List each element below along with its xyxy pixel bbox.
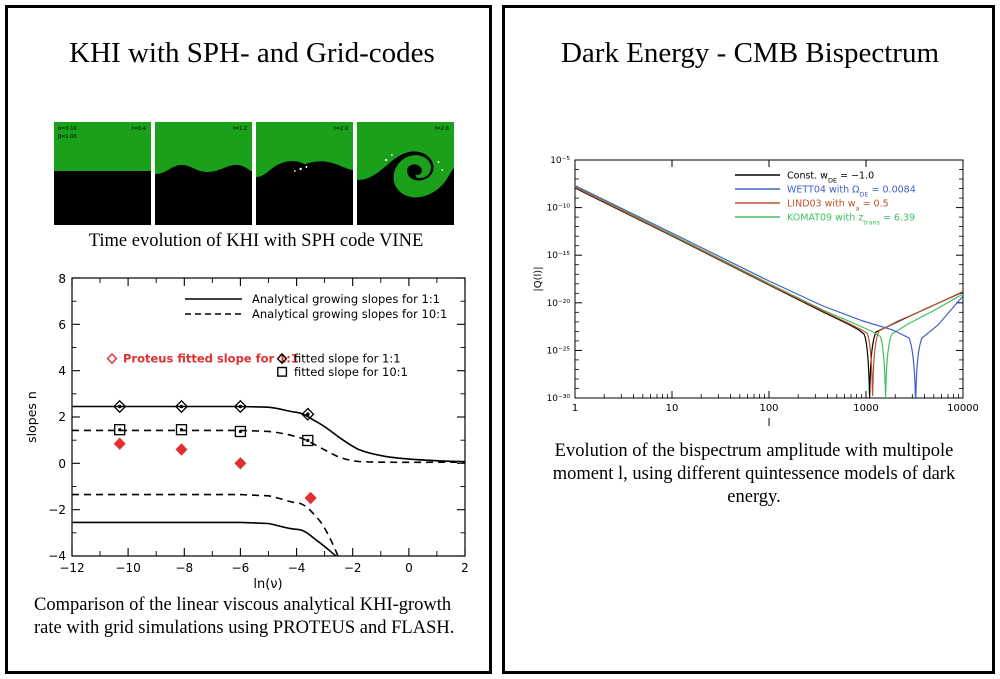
svg-text:0: 0 <box>405 561 413 575</box>
sim-time-label-1: t=0.4 <box>132 126 146 132</box>
sim-frame-4: t=2.8 <box>357 122 454 225</box>
y-tick-labels: 8 6 4 2 0 −2 −4 <box>48 272 66 563</box>
svg-text:−12: −12 <box>59 561 84 575</box>
left-bottom-caption: Comparison of the linear viscous analyti… <box>34 594 474 640</box>
x-tick-labels-cmb: 1 10 100 1000 10000 <box>572 403 978 414</box>
svg-text:−8: −8 <box>175 561 193 575</box>
legend-marker-proteus <box>108 354 117 363</box>
cmb-legend: Const. wDE = −1.0 WETT04 with ΩDE = 0.00… <box>735 171 916 227</box>
sim-time-label-4: t=2.8 <box>435 126 449 132</box>
sim-wave-3 <box>256 122 353 225</box>
legend-label-const-w: Const. wDE = −1.0 <box>787 171 874 185</box>
svg-text:10⁻³⁰: 10⁻³⁰ <box>547 394 571 404</box>
sim-wave-2 <box>155 122 252 225</box>
khi-slopes-chart: 8 6 4 2 0 −2 −4 slopes n <box>20 266 485 591</box>
points-fitted-10-1 <box>115 425 313 446</box>
legend-label-komat09: KOMAT09 with ztrans = 6.39 <box>787 213 915 227</box>
y-axis-label: slopes n <box>24 391 39 443</box>
svg-text:4: 4 <box>58 364 66 378</box>
svg-text:10⁻¹⁰: 10⁻¹⁰ <box>547 204 571 214</box>
sim-alpha-label-1: α=0.10 <box>58 126 77 132</box>
sim-frame-2: t=1.2 <box>155 122 252 225</box>
svg-text:−2: −2 <box>344 561 362 575</box>
svg-text:10000: 10000 <box>947 403 978 414</box>
svg-text:1000: 1000 <box>853 403 878 414</box>
svg-text:6: 6 <box>58 318 66 332</box>
svg-text:10⁻²⁰: 10⁻²⁰ <box>547 299 571 309</box>
svg-text:2: 2 <box>461 561 469 575</box>
chart-legend: Analytical growing slopes for 1:1 Analyt… <box>108 292 448 379</box>
svg-text:10⁻¹⁵: 10⁻¹⁵ <box>547 251 571 261</box>
x-tick-labels: −12 −10 −8 −6 −4 −2 0 2 <box>59 561 468 575</box>
panel-left-title: KHI with SPH- and Grid-codes <box>32 36 472 70</box>
simulation-strip: α=0.10 β=1.00 t=0.4 t=1.2 <box>54 122 454 225</box>
svg-text:10: 10 <box>666 403 679 414</box>
svg-text:100: 100 <box>759 403 778 414</box>
svg-text:2: 2 <box>58 410 66 424</box>
svg-text:10⁻⁵: 10⁻⁵ <box>550 156 570 166</box>
sim-wave-4 <box>357 122 454 225</box>
svg-text:−2: −2 <box>48 503 66 517</box>
svg-text:0: 0 <box>58 457 66 471</box>
simulation-caption: Time evolution of KHI with SPH code VINE <box>36 230 476 253</box>
legend-label-fitted-1-1: fitted slope for 1:1 <box>294 352 401 366</box>
legend-label-lind03: LIND03 with wa = 0.5 <box>787 199 889 213</box>
panel-right: Dark Energy - CMB Bispectrum <box>502 5 995 674</box>
legend-label-wett04: WETT04 with ΩDE = 0.0084 <box>787 185 916 199</box>
panel-left: KHI with SPH- and Grid-codes α=0.10 β=1.… <box>5 5 492 674</box>
legend-label-proteus: Proteus fitted slope for 1:1 <box>123 352 299 366</box>
sim-frame-3: t=2.0 <box>256 122 353 225</box>
svg-text:10⁻²⁵: 10⁻²⁵ <box>547 346 571 356</box>
svg-text:8: 8 <box>58 272 66 286</box>
svg-text:−6: −6 <box>232 561 250 575</box>
legend-label-analytical-10-1: Analytical growing slopes for 10:1 <box>252 307 447 321</box>
sim-beta-label-1: β=1.00 <box>58 134 77 140</box>
cmb-bispectrum-chart: 10⁻⁵ 10⁻¹⁰ 10⁻¹⁵ 10⁻²⁰ 10⁻²⁵ 10⁻³⁰ |Q(l)… <box>523 148 978 433</box>
y-tick-labels-cmb: 10⁻⁵ 10⁻¹⁰ 10⁻¹⁵ 10⁻²⁰ 10⁻²⁵ 10⁻³⁰ <box>547 156 571 404</box>
cmb-bispectrum-svg: 10⁻⁵ 10⁻¹⁰ 10⁻¹⁵ 10⁻²⁰ 10⁻²⁵ 10⁻³⁰ |Q(l)… <box>523 148 978 433</box>
panel-right-title: Dark Energy - CMB Bispectrum <box>525 36 975 70</box>
x-axis-label: ln(ν) <box>253 577 282 591</box>
y-axis-label-cmb: |Q(l)| <box>533 266 544 291</box>
x-axis-label-cmb: l <box>767 416 770 429</box>
series-analytical-1-1 <box>72 407 465 462</box>
sim-time-label-2: t=1.2 <box>233 126 247 132</box>
sim-time-label-3: t=2.0 <box>334 126 348 132</box>
khi-slopes-svg: 8 6 4 2 0 −2 −4 slopes n <box>20 266 485 591</box>
legend-label-analytical-1-1: Analytical growing slopes for 1:1 <box>252 292 440 306</box>
legend-marker-square <box>278 368 287 377</box>
right-caption: Evolution of the bispectrum amplitude wi… <box>529 440 979 509</box>
legend-label-fitted-10-1: fitted slope for 10:1 <box>294 365 408 379</box>
svg-text:−10: −10 <box>115 561 140 575</box>
series-analytical-10-1 <box>72 430 465 462</box>
poster-root: KHI with SPH- and Grid-codes α=0.10 β=1.… <box>0 0 1000 679</box>
sim-frame-1: α=0.10 β=1.00 t=0.4 <box>54 122 151 225</box>
series-analytical-damping-10-1 <box>72 495 338 556</box>
svg-text:1: 1 <box>572 403 578 414</box>
svg-text:−4: −4 <box>288 561 306 575</box>
